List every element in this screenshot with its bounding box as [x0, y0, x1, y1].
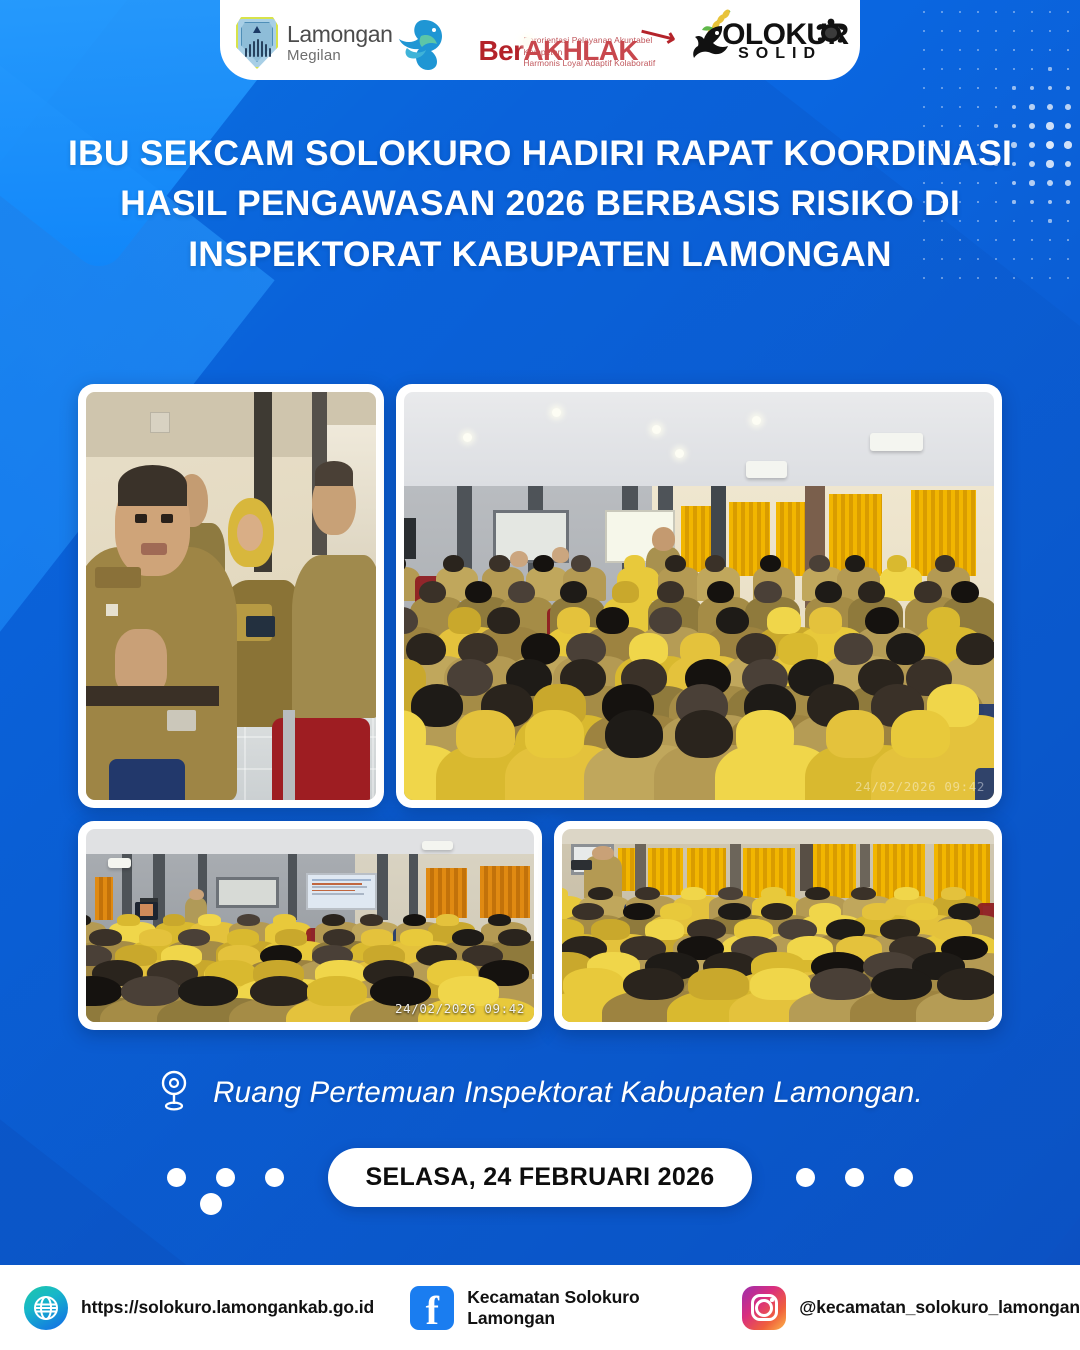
date-dots-right — [796, 1168, 913, 1187]
location-text: Ruang Pertemuan Inspektorat Kabupaten La… — [213, 1076, 923, 1110]
decorative-dot — [265, 1168, 284, 1187]
photo-collage: 24/02/2026 09:42 — [78, 384, 1002, 1030]
wave-fish-icon — [395, 16, 447, 70]
photo-timestamp: 24/02/2026 09:42 — [855, 779, 985, 794]
decorative-dot — [216, 1168, 235, 1187]
photo-presentation-screen: 24/02/2026 09:42 — [78, 821, 542, 1030]
date-row: SELASA, 24 FEBRUARI 2026 — [0, 1140, 1080, 1214]
header-logo-card: Lamongan Megilan BerAKHLAK ⟶ Berorientas… — [220, 0, 860, 80]
berakhlak-logo: BerAKHLAK ⟶ Berorientasi Pelayanan Akunt… — [479, 32, 663, 70]
berakhlak-akhlak: AKHLAK — [523, 37, 532, 46]
lamongan-crest-icon — [236, 17, 278, 69]
photo-audience-side-view — [554, 821, 1002, 1030]
globe-icon — [24, 1286, 68, 1330]
solokuro-solid-logo: OLOKUR SOLID — [692, 12, 844, 70]
instagram-icon — [742, 1286, 786, 1330]
map-pin-icon — [157, 1068, 191, 1117]
website-label: https://solokuro.lamongankab.go.id — [81, 1297, 374, 1318]
page-title: IBU SEKCAM SOLOKURO HADIRI RAPAT KOORDIN… — [55, 128, 1025, 279]
solid-wordmark: SOLID — [738, 46, 822, 62]
decorative-dot — [796, 1168, 815, 1187]
date-badge: SELASA, 24 FEBRUARI 2026 — [328, 1148, 753, 1207]
decorative-dot — [167, 1168, 186, 1187]
footer-website[interactable]: https://solokuro.lamongankab.go.id — [24, 1286, 374, 1330]
photo-officials-seated — [78, 384, 384, 808]
footer-instagram[interactable]: @kecamatan_solokuro_lamongan — [742, 1286, 1080, 1330]
footer-facebook[interactable]: f Kecamatan Solokuro Lamongan — [410, 1286, 700, 1330]
photo-timestamp: 24/02/2026 09:42 — [395, 1001, 525, 1016]
facebook-label: Kecamatan Solokuro Lamongan — [467, 1287, 700, 1329]
photo-meeting-hall-audience: 24/02/2026 09:42 — [396, 384, 1002, 808]
facebook-icon: f — [410, 1286, 454, 1330]
location-row: Ruang Pertemuan Inspektorat Kabupaten La… — [0, 1068, 1080, 1117]
decorative-dot — [845, 1168, 864, 1187]
instagram-label: @kecamatan_solokuro_lamongan — [799, 1297, 1080, 1318]
megilan-wordmark: Megilan — [287, 48, 393, 63]
date-dots-left — [167, 1168, 284, 1187]
berakhlak-ber: Ber — [479, 35, 524, 66]
decorative-dot — [894, 1168, 913, 1187]
footer-bar: https://solokuro.lamongankab.go.id f Kec… — [0, 1265, 1080, 1350]
lamongan-megilan-logo: Lamongan Megilan — [236, 16, 447, 70]
turtle-icon — [816, 18, 846, 51]
poster-root: Lamongan Megilan BerAKHLAK ⟶ Berorientas… — [0, 0, 1080, 1350]
lamongan-wordmark: Lamongan — [287, 23, 393, 46]
